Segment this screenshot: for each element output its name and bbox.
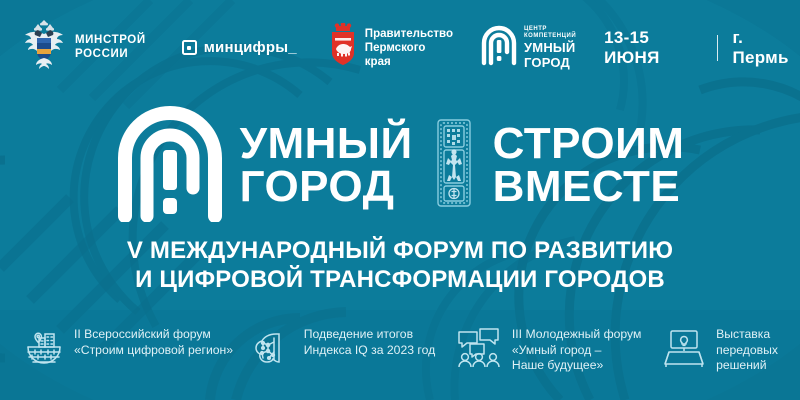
highlight-item[interactable]: III Молодежный форум «Умный город – Наше… [456,327,641,374]
highlight-label: III Молодежный форум «Умный город – Наше… [512,327,641,374]
fingerprint-logo-icon [116,104,224,227]
highlight-label: Подведение итогов Индекса IQ за 2023 год [304,327,435,358]
hero-slogan-line1: СТРОИМ [493,119,685,168]
perm-krai-bear-shield-icon [329,23,357,72]
partner-minstroy[interactable]: МИНСТРОЙ РОССИИ [22,20,146,75]
partner-perm-krai[interactable]: Правительство Пермского края [329,23,453,72]
square-dot-icon [182,40,197,55]
forum-subtitle-line2: И ЦИФРОВОЙ ТРАНСФОРМАЦИИ ГОРОДОВ [0,265,800,294]
city-region-icon [24,328,64,373]
hero-slogan-line2: ВМЕСТЕ [493,162,681,211]
cc-big-line1: УМНЫЙ [524,41,576,55]
hero-lockup: УМНЫЙ ГОРОД [0,95,800,235]
partner-center-competence[interactable]: ЦЕНТР КОМПЕТЕНЦИЙ УМНЫЙ ГОРОД [481,23,576,72]
highlight-item[interactable]: Выставка передовых решений [662,327,778,374]
highlight-item[interactable]: Подведение итогов Индекса IQ за 2023 год [254,327,435,373]
cc-small-line2: КОМПЕТЕНЦИЙ [524,33,576,40]
speech-bubbles-people-icon [456,328,502,373]
event-date-location: 13-15 ИЮНЯ г. Пермь [604,28,800,68]
date-location-divider [717,35,719,61]
hero-title-line2: ГОРОД [240,165,413,208]
forum-subtitle: V МЕЖДУНАРОДНЫЙ ФОРУМ ПО РАЗВИТИЮ И ЦИФР… [0,236,800,294]
partner-center-competence-label: ЦЕНТР КОМПЕТЕНЦИЙ УМНЫЙ ГОРОД [524,26,576,69]
permian-animal-style-plaque-icon [435,117,473,214]
event-banner: МИНСТРОЙ РОССИИ минцифры_ [0,0,800,400]
forum-subtitle-line1: V МЕЖДУНАРОДНЫЙ ФОРУМ ПО РАЗВИТИЮ [0,236,800,265]
hero-title: УМНЫЙ ГОРОД [240,122,413,208]
highlight-label: II Всероссийский форум «Строим цифровой … [74,327,233,358]
partner-perm-krai-label: Правительство Пермского края [365,27,453,69]
cc-small-line1: ЦЕНТР [524,26,576,33]
brain-circuit-icon [254,328,294,373]
hero-title-line1: УМНЫЙ [240,119,413,168]
fingerprint-icon [481,23,517,72]
partner-minstroy-label: МИНСТРОЙ РОССИИ [75,34,146,61]
hero-slogan: СТРОИМ ВМЕСТЕ [493,122,685,208]
event-city: г. Пермь [732,28,800,68]
highlight-label: Выставка передовых решений [716,327,778,374]
exhibition-stand-icon [662,328,706,373]
cc-big-line2: ГОРОД [524,56,576,70]
highlight-item[interactable]: II Всероссийский форум «Строим цифровой … [24,327,233,373]
partner-mintsifry[interactable]: минцифры_ [182,39,297,56]
partner-logo-bar: МИНСТРОЙ РОССИИ минцифры_ [0,0,800,95]
event-date: 13-15 ИЮНЯ [604,28,703,68]
partner-mintsifry-label: минцифры_ [204,39,297,56]
double-headed-eagle-emblem-icon [22,20,66,75]
program-highlights: II Всероссийский форум «Строим цифровой … [0,313,800,400]
